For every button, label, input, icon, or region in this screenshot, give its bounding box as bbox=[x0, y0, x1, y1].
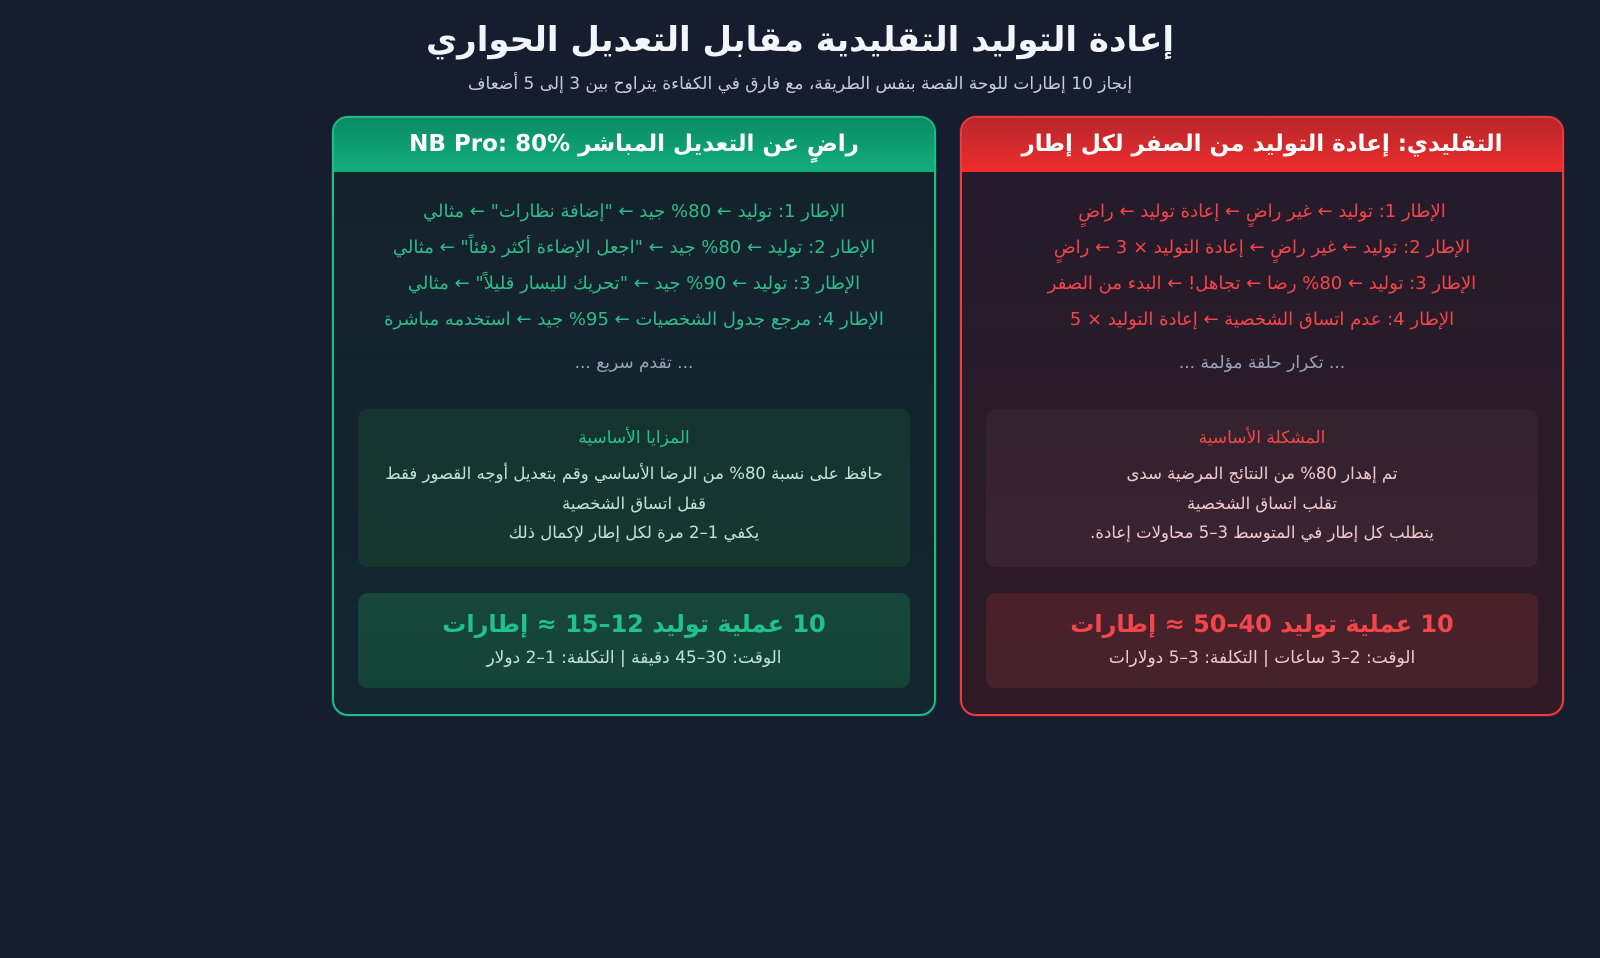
flow-step-line: الإطار 2: توليد ← 80% جيد ← "اجعل الإضاء… bbox=[358, 230, 910, 266]
summary-subtext: الوقت: 2–3 ساعات | التكلفة: 3–5 دولارات bbox=[1002, 647, 1522, 671]
flow-step-line: الإطار 1: توليد ← 80% جيد ← "إضافة نظارا… bbox=[358, 194, 910, 230]
card-legacy-body: الإطار 1: توليد ← غير راضٍ ← إعادة توليد… bbox=[962, 172, 1562, 714]
card-legacy-summary-box: 10 عملية توليد 40–50 ≈ إطارات الوقت: 2–3… bbox=[986, 593, 1538, 688]
comparison-cards: التقليدي: إعادة التوليد من الصفر لكل إطا… bbox=[36, 116, 1564, 716]
card-legacy-problem-box: المشكلة الأساسية تم إهدار 80% من النتائج… bbox=[986, 409, 1538, 568]
problem-box-title: المشكلة الأساسية bbox=[1006, 427, 1518, 451]
page-subtitle: إنجاز 10 إطارات للوحة القصة بنفس الطريقة… bbox=[40, 73, 1560, 97]
card-legacy-flow-list: الإطار 1: توليد ← غير راضٍ ← إعادة توليد… bbox=[986, 194, 1538, 338]
advantage-box-line: حافظ على نسبة 80% من الرضا الأساسي وقم ب… bbox=[378, 459, 890, 488]
card-pro-body: الإطار 1: توليد ← 80% جيد ← "إضافة نظارا… bbox=[334, 172, 934, 714]
advantage-box-line: يكفي 1–2 مرة لكل إطار لإكمال ذلك bbox=[378, 518, 890, 547]
flow-step-line: الإطار 4: مرجع جدول الشخصيات ← 95% جيد ←… bbox=[358, 302, 910, 338]
flow-step-line: الإطار 4: عدم اتساق الشخصية ← إعادة التو… bbox=[986, 302, 1538, 338]
card-pro-flow-list: الإطار 1: توليد ← 80% جيد ← "إضافة نظارا… bbox=[358, 194, 910, 338]
card-pro: راضٍ عن التعديل المباشر NB Pro: 80% الإط… bbox=[332, 116, 936, 716]
summary-subtext: الوقت: 30–45 دقيقة | التكلفة: 1–2 دولار bbox=[374, 647, 894, 671]
problem-box-line: تقلب اتساق الشخصية bbox=[1006, 489, 1518, 518]
summary-headline: 10 عملية توليد 12–15 ≈ إطارات bbox=[374, 609, 894, 640]
card-legacy: التقليدي: إعادة التوليد من الصفر لكل إطا… bbox=[960, 116, 1564, 716]
card-pro-header: راضٍ عن التعديل المباشر NB Pro: 80% bbox=[334, 118, 934, 172]
card-pro-flow-note: ... تقدم سريع ... bbox=[358, 344, 910, 373]
flow-step-line: الإطار 2: توليد ← غير راضٍ ← إعادة التول… bbox=[986, 230, 1538, 266]
flow-step-line: الإطار 1: توليد ← غير راضٍ ← إعادة توليد… bbox=[986, 194, 1538, 230]
problem-box-line: يتطلب كل إطار في المتوسط 3–5 محاولات إعا… bbox=[1006, 518, 1518, 547]
flow-step-line: الإطار 3: توليد ← 90% جيد ← "تحريك لليسا… bbox=[358, 266, 910, 302]
problem-box-line: تم إهدار 80% من النتائج المرضية سدى bbox=[1006, 459, 1518, 488]
card-legacy-flow-note: ... تكرار حلقة مؤلمة ... bbox=[986, 344, 1538, 373]
card-pro-summary-box: 10 عملية توليد 12–15 ≈ إطارات الوقت: 30–… bbox=[358, 593, 910, 688]
card-legacy-header: التقليدي: إعادة التوليد من الصفر لكل إطا… bbox=[962, 118, 1562, 172]
card-pro-advantage-box: المزايا الأساسية حافظ على نسبة 80% من ال… bbox=[358, 409, 910, 568]
page-header: إعادة التوليد التقليدية مقابل التعديل ال… bbox=[0, 18, 1600, 97]
page-title: إعادة التوليد التقليدية مقابل التعديل ال… bbox=[40, 18, 1560, 64]
summary-headline: 10 عملية توليد 40–50 ≈ إطارات bbox=[1002, 609, 1522, 640]
flow-step-line: الإطار 3: توليد ← 80% رضا ← تجاهل! ← الب… bbox=[986, 266, 1538, 302]
comparison-infographic: إعادة التوليد التقليدية مقابل التعديل ال… bbox=[0, 0, 1600, 958]
advantage-box-line: قفل اتساق الشخصية bbox=[378, 489, 890, 518]
advantage-box-title: المزايا الأساسية bbox=[378, 427, 890, 451]
